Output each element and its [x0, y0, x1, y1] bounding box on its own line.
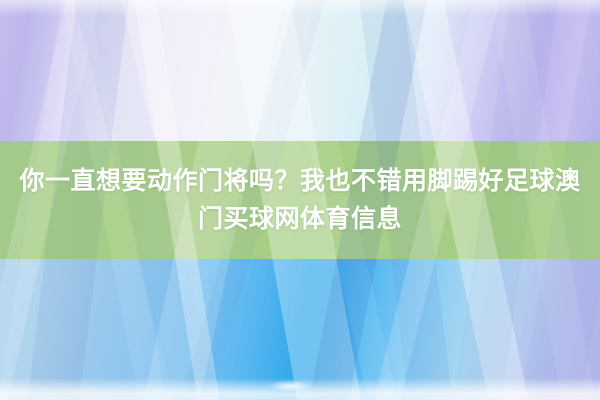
- background-band-bottom: [0, 259, 600, 400]
- headline-line-1: 你一直想要动作门将吗？我也不错用脚踢好足球澳: [19, 162, 580, 200]
- background-band-top: [0, 0, 600, 141]
- headline-block: 你一直想要动作门将吗？我也不错用脚踢好足球澳 门买球网体育信息: [0, 141, 600, 259]
- banner-image: 你一直想要动作门将吗？我也不错用脚踢好足球澳 门买球网体育信息: [0, 0, 600, 400]
- headline-line-2: 门买球网体育信息: [198, 200, 402, 238]
